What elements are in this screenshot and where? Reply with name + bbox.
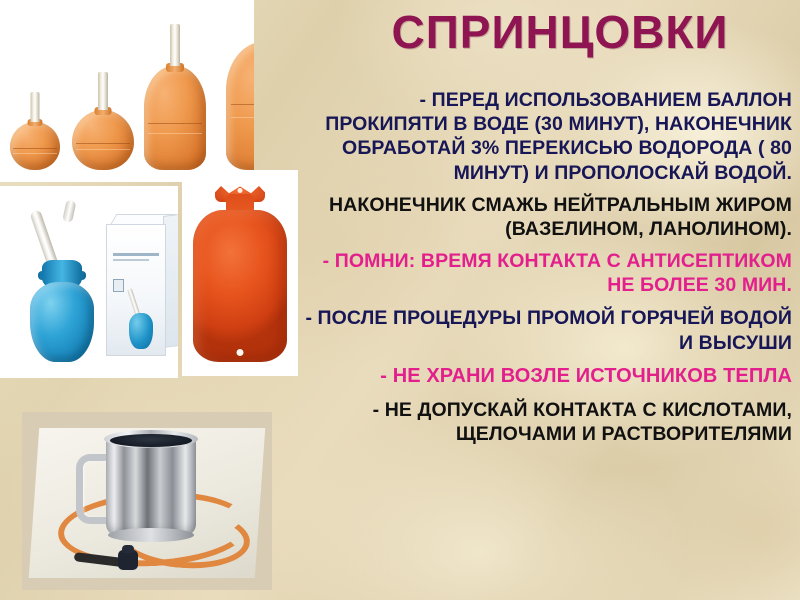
cap-highlight bbox=[238, 188, 243, 193]
instruction-paragraph-5: - НЕ ХРАНИ ВОЗЛЕ ИСТОЧНИКОВ ТЕПЛА bbox=[292, 364, 792, 389]
bulb-syringe-small bbox=[10, 88, 60, 170]
hot-water-bottle bbox=[193, 186, 287, 362]
box-product-illustration bbox=[125, 273, 155, 349]
box-logo-mark bbox=[113, 279, 124, 292]
bulb-tip bbox=[31, 92, 40, 122]
bulb-ring bbox=[13, 148, 57, 154]
slide-title: СПРИНЦОВКИ bbox=[330, 8, 790, 58]
photo-blue-syringe-with-box bbox=[0, 186, 178, 378]
bulb-ring bbox=[148, 123, 203, 134]
photo-esmarch-mug bbox=[22, 412, 272, 590]
product-box bbox=[106, 208, 178, 358]
instruction-paragraph-6: - НЕ ДОПУСКАЙ КОНТАКТА С КИСЛОТАМИ, ЩЕЛО… bbox=[292, 398, 792, 446]
esmarch-mug-scene bbox=[22, 412, 272, 590]
hot-water-bottle-body bbox=[193, 210, 287, 362]
blue-syringe-tip-upper bbox=[62, 199, 76, 223]
instruction-paragraph-3: - ПОМНИ: ВРЕМЯ КОНТАКТА С АНТИСЕПТИКОМ Н… bbox=[292, 249, 792, 297]
blue-syringe bbox=[22, 206, 102, 362]
bulb-syringe-medium bbox=[72, 66, 134, 170]
bulb-ring bbox=[76, 143, 131, 150]
photo-orange-bulb-syringes bbox=[0, 0, 254, 182]
bulb-body bbox=[144, 66, 206, 170]
photo-hot-water-bottle bbox=[182, 170, 298, 376]
box-front-face bbox=[106, 224, 166, 356]
bulb-syringe-xlarge bbox=[226, 0, 254, 170]
blue-syringe-body bbox=[30, 282, 94, 362]
bulb-body bbox=[72, 110, 134, 170]
box-label-line-2 bbox=[113, 259, 149, 261]
slide-canvas: СПРИНЦОВКИ - ПЕРЕД ИСПОЛЬЗОВАНИЕМ БАЛЛОН… bbox=[0, 0, 800, 600]
bulb-tip bbox=[98, 72, 108, 110]
mug-interior bbox=[110, 434, 192, 447]
box-illustration-body bbox=[129, 313, 153, 349]
hanging-hole bbox=[237, 349, 244, 356]
instructions-list: - ПЕРЕД ИСПОЛЬЗОВАНИЕМ БАЛЛОН ПРОКИПЯТИ … bbox=[292, 88, 792, 446]
box-label-line-1 bbox=[113, 253, 159, 256]
bulb-ring bbox=[231, 104, 254, 118]
tube-clamp bbox=[118, 550, 138, 570]
bulb-body bbox=[226, 42, 254, 170]
bulb-body bbox=[10, 122, 60, 170]
instruction-paragraph-4: - ПОСЛЕ ПРОЦЕДУРЫ ПРОМОЙ ГОРЯЧЕЙ ВОДОЙ И… bbox=[292, 306, 792, 354]
instruction-paragraph-1: - ПЕРЕД ИСПОЛЬЗОВАНИЕМ БАЛЛОН ПРОКИПЯТИ … bbox=[292, 88, 792, 185]
bulb-syringe-large bbox=[144, 22, 206, 170]
bulb-tip bbox=[170, 24, 180, 66]
instruction-paragraph-2: НАКОНЕЧНИК СМАЖЬ НЕЙТРАЛЬНЫМ ЖИРОМ (ВАЗЕ… bbox=[292, 193, 792, 241]
